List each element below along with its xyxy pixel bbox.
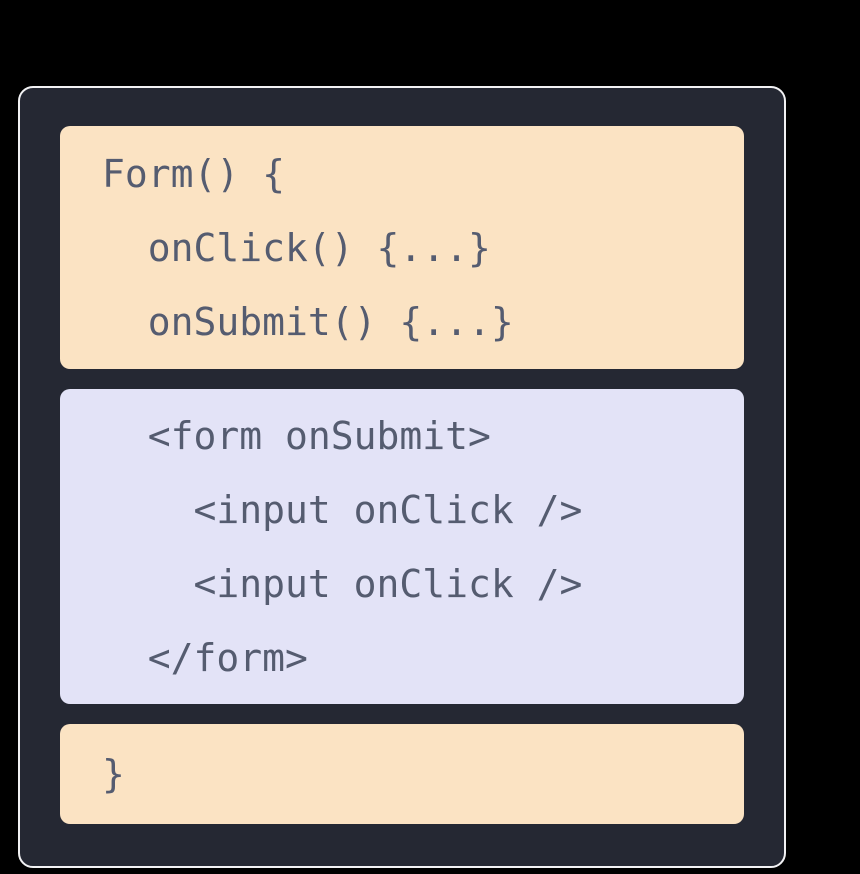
code-line: onClick() {...} [60, 211, 744, 285]
code-line: <input onClick /> [60, 547, 744, 621]
code-line: onSubmit() {...} [60, 285, 744, 359]
code-line: <form onSubmit> [60, 399, 744, 473]
code-segment-jsx-markup: <form onSubmit> <input onClick /> <input… [60, 389, 744, 704]
code-line: } [60, 737, 744, 811]
code-segment-component-body: Form() { onClick() {...} onSubmit() {...… [60, 126, 744, 369]
code-line: <input onClick /> [60, 473, 744, 547]
code-segment-closing-brace: } [60, 724, 744, 824]
code-line: </form> [60, 621, 744, 695]
screenshot-canvas: Form() { onClick() {...} onSubmit() {...… [0, 0, 860, 874]
code-line: Form() { [60, 137, 744, 211]
code-card: Form() { onClick() {...} onSubmit() {...… [18, 86, 786, 868]
